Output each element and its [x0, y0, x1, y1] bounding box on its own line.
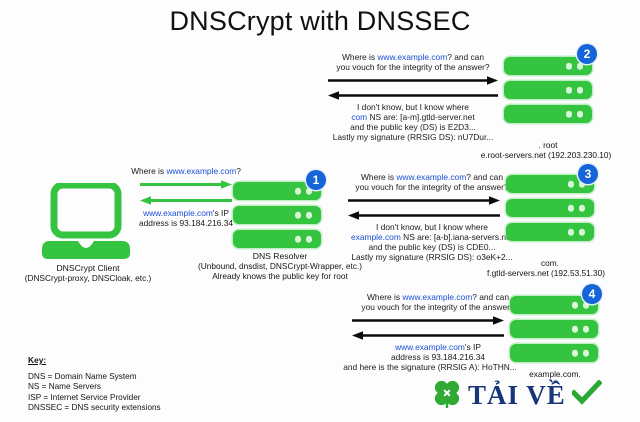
step-badge-2: 2 [577, 44, 597, 64]
step4-answer-line1: www.example.com's IP [338, 342, 538, 352]
step2-response-arrow [328, 91, 498, 100]
key-item: DNS = Domain Name System [28, 372, 161, 382]
step3-q-suffix: ? and can [466, 172, 503, 182]
client-answer-suffix: 's IP [213, 208, 229, 218]
step2-answer-rest: NS are: [a-m].gtld-server.net [367, 112, 475, 122]
server-led-icon [295, 212, 302, 219]
server-led-icon [572, 350, 579, 357]
step4-q-link: www.example.com [402, 292, 472, 302]
server-block [504, 81, 592, 99]
step4-q-suffix: ? and can [472, 292, 509, 302]
step2-q-prefix: Where is [342, 52, 377, 62]
step3-response-arrow [348, 211, 500, 220]
step4-answer-link: www.example.com [395, 342, 465, 352]
step4-question-line2: you vouch for the integrity of the answe… [338, 302, 538, 312]
server-block [504, 105, 592, 123]
server-block [510, 344, 598, 362]
root-server-label-line2: e.root-servers.net (192.203.230.10) [452, 150, 640, 160]
step3-answer-link: example.com [351, 232, 401, 242]
step3-answer-line1: I don't know, but I know where [332, 222, 532, 232]
step3-request-arrow [348, 196, 500, 205]
watermark: TẢI VỀ [432, 378, 602, 413]
server-block [233, 230, 321, 248]
com-server-label-line1: com. [462, 258, 638, 268]
root-server-stack [504, 57, 592, 129]
server-led-icon [295, 188, 302, 195]
page-title: DNSCrypt with DNSSEC [0, 6, 640, 37]
server-led-icon [568, 229, 575, 236]
step-badge-4: 4 [582, 284, 602, 304]
com-server-label-line2: f.gtld-servers.net (192.53.51.30) [452, 268, 640, 278]
step3-answer-line3: and the public key (DS) is CDE0... [332, 242, 532, 252]
step2-answer-line2: com NS are: [a-m].gtld-server.net [313, 112, 513, 122]
server-led-icon [306, 236, 313, 243]
server-block [506, 223, 594, 241]
root-server-label-line1: . root [460, 140, 636, 150]
step3-question-line2: you vouch for the integrity of the answe… [332, 182, 532, 192]
server-led-icon [579, 229, 586, 236]
server-led-icon [579, 205, 586, 212]
server-led-icon [568, 181, 575, 188]
server-led-icon [572, 302, 579, 309]
diagram-canvas: DNSCrypt with DNSSEC DNSCrypt Client (DN… [0, 0, 640, 422]
resolver-server-stack [233, 182, 321, 254]
step3-question-line1: Where is www.example.com? and can [332, 172, 532, 182]
step2-request-arrow [328, 76, 498, 85]
step3-q-link: www.example.com [396, 172, 466, 182]
step2-q-suffix: ? and can [447, 52, 484, 62]
server-led-icon [577, 63, 584, 70]
step3-answer-rest: NS are: [a-b].iana-servers.net [401, 232, 513, 242]
server-led-icon [566, 87, 573, 94]
key-item: ISP = Internet Service Provider [28, 393, 161, 403]
client-query-text: Where is www.example.com? [118, 166, 254, 176]
four-leaf-clover-icon [432, 378, 462, 413]
watermark-text: TẢI VỀ [468, 382, 566, 409]
step-badge-3: 3 [578, 164, 598, 184]
check-mark-icon [572, 380, 602, 411]
step4-answer-line2: address is 93.184.216.34 [338, 352, 538, 362]
resolver-label-line3: Already knows the public key for root [150, 271, 410, 281]
key-heading: Key: [28, 355, 46, 365]
step2-q-link: www.example.com [377, 52, 447, 62]
server-led-icon [583, 350, 590, 357]
example-server-stack [510, 296, 598, 368]
step-badge-1: 1 [306, 170, 326, 190]
step2-answer-line1: I don't know, but I know where [313, 102, 513, 112]
step2-question-line1: Where is www.example.com? and can [313, 52, 513, 62]
client-query-suffix: ? [236, 166, 241, 176]
server-block [510, 320, 598, 338]
step4-request-arrow [352, 316, 504, 325]
client-query-prefix: Where is [131, 166, 166, 176]
step4-question-line1: Where is www.example.com? and can [338, 292, 538, 302]
client-response-arrow [140, 196, 232, 205]
client-request-arrow [140, 180, 232, 189]
server-led-icon [295, 236, 302, 243]
com-server-stack [506, 175, 594, 247]
step2-answer-line3: and the public key (DS) is E2D3... [313, 122, 513, 132]
step4-q-prefix: Where is [367, 292, 402, 302]
client-answer-link: www.example.com [143, 208, 213, 218]
server-led-icon [572, 326, 579, 333]
key-item: DNSSEC = DNS security extensions [28, 403, 161, 413]
server-led-icon [566, 111, 573, 118]
server-block [506, 199, 594, 217]
key-item: NS = Name Servers [28, 382, 161, 392]
key-list: DNS = Domain Name System NS = Name Serve… [28, 372, 161, 414]
server-led-icon [566, 63, 573, 70]
server-led-icon [306, 212, 313, 219]
resolver-label-line2: (Unbound, dnsdist, DNSCrypt-Wrapper, etc… [150, 261, 410, 271]
step3-q-prefix: Where is [361, 172, 396, 182]
step4-answer-suffix: 's IP [465, 342, 481, 352]
client-query-link: www.example.com [166, 166, 236, 176]
server-led-icon [577, 87, 584, 94]
step4-response-arrow [352, 331, 504, 340]
step2-answer-link: com [351, 112, 367, 122]
server-block [233, 206, 321, 224]
server-led-icon [577, 111, 584, 118]
server-led-icon [583, 326, 590, 333]
step2-question-line2: you vouch for the integrity of the answe… [313, 62, 513, 72]
server-led-icon [568, 205, 575, 212]
